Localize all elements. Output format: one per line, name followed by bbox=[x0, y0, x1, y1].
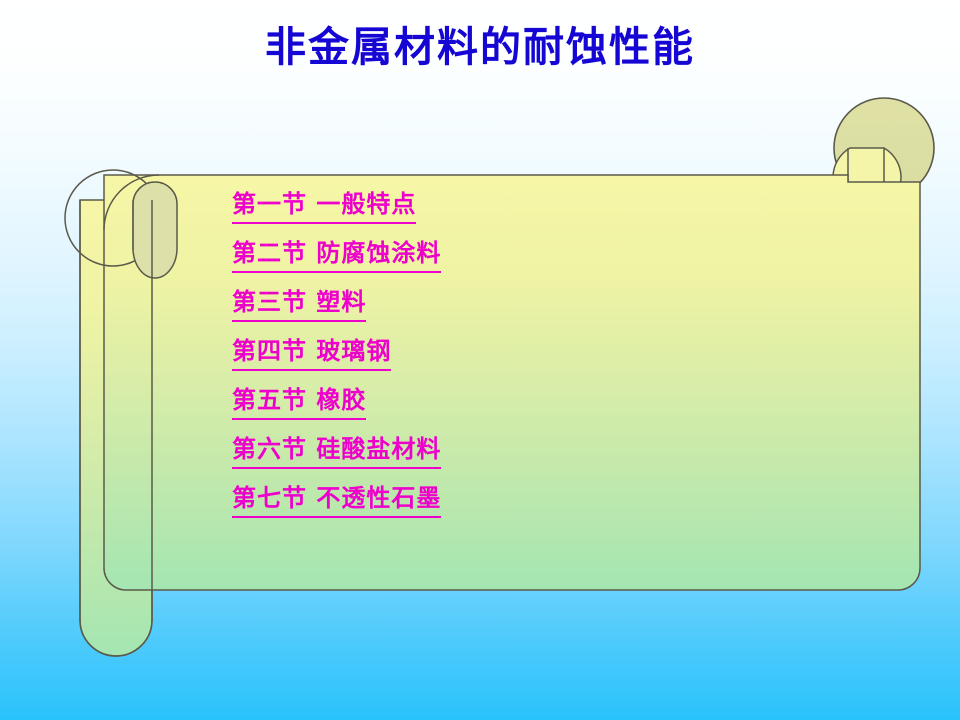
toc-item-6[interactable]: 第六节 硅酸盐材料 bbox=[232, 437, 712, 486]
toc-item-7-label: 第七节 不透性石墨 bbox=[232, 486, 441, 518]
toc-item-5[interactable]: 第五节 橡胶 bbox=[232, 388, 712, 437]
toc-list: 第一节 一般特点 第二节 防腐蚀涂料 第三节 塑料 第四节 玻璃钢 第五节 橡胶… bbox=[232, 192, 712, 535]
toc-item-1-label: 第一节 一般特点 bbox=[232, 192, 416, 224]
toc-item-2[interactable]: 第二节 防腐蚀涂料 bbox=[232, 241, 712, 290]
toc-item-6-label: 第六节 硅酸盐材料 bbox=[232, 437, 441, 469]
toc-item-5-label: 第五节 橡胶 bbox=[232, 388, 366, 420]
toc-item-2-label: 第二节 防腐蚀涂料 bbox=[232, 241, 441, 273]
slide: 非金属材料的耐蚀性能 第一节 一般特点 第二节 防腐蚀涂料 第三节 塑料 第四节… bbox=[0, 0, 960, 720]
toc-item-4[interactable]: 第四节 玻璃钢 bbox=[232, 339, 712, 388]
toc-item-4-label: 第四节 玻璃钢 bbox=[232, 339, 391, 371]
page-title: 非金属材料的耐蚀性能 bbox=[0, 24, 960, 71]
toc-item-1[interactable]: 第一节 一般特点 bbox=[232, 192, 712, 241]
toc-item-3-label: 第三节 塑料 bbox=[232, 290, 366, 322]
toc-item-3[interactable]: 第三节 塑料 bbox=[232, 290, 712, 339]
toc-item-7[interactable]: 第七节 不透性石墨 bbox=[232, 486, 712, 535]
